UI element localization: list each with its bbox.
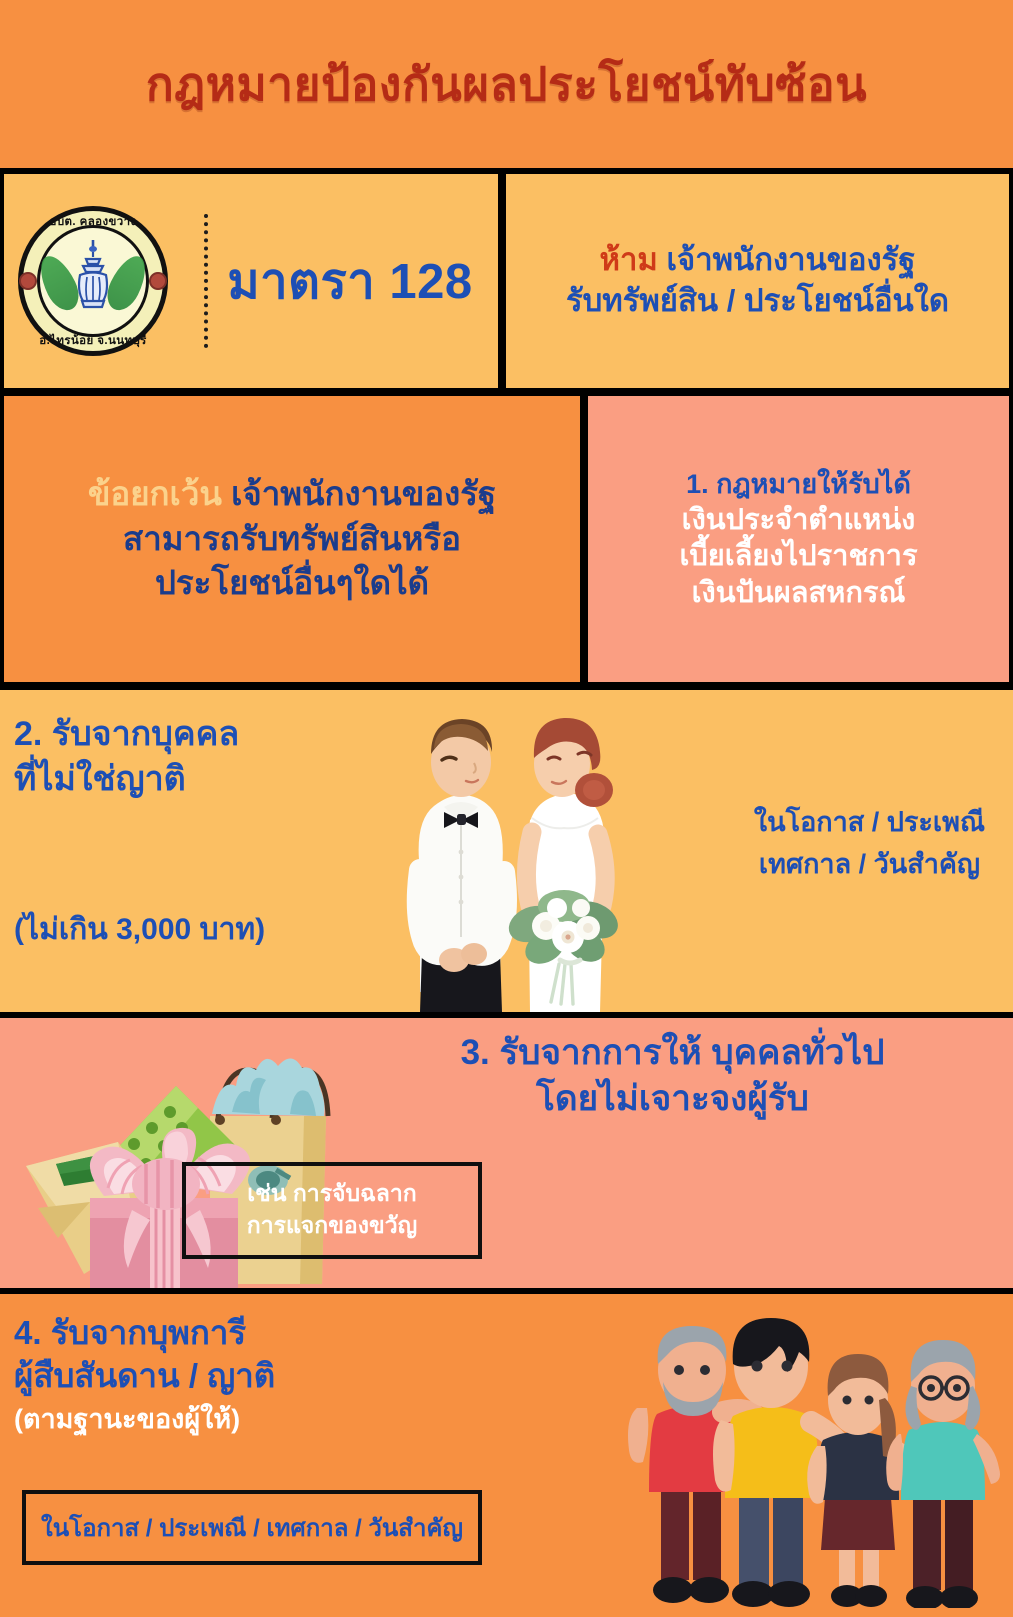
general-public-line-2: โดยไม่เจาะจงผู้รับ [346, 1076, 999, 1122]
prohibition-line-1-rest: เจ้าพนักงานของรัฐ [658, 242, 916, 277]
general-public-text-block: 3. รับจากการให้ บุคคลทั่วไป โดยไม่เจาะจง… [346, 1030, 999, 1121]
exception-emphasis: ข้อยกเว้น [88, 475, 222, 512]
non-relative-text-block: 2. รับจากบุคคล ที่ไม่ใช่ญาติ [14, 712, 374, 802]
vertical-dotted-divider [204, 214, 208, 348]
seal-top-text: อบต. คลองขวาง [18, 213, 168, 231]
non-relative-line-2: ที่ไม่ใช่ญาติ [14, 757, 374, 802]
prohibition-line-2: รับทรัพย์สิน / ประโยชน์อื่นใด [566, 281, 949, 322]
family-occasion-box: ในโอกาส / ประเพณี / เทศกาล / วันสำคัญ [22, 1490, 482, 1565]
exception-line-1-rest: เจ้าพนักงานของรัฐ [222, 475, 496, 512]
grandmother-figure [886, 1340, 1000, 1608]
family-line-2: ผู้สืบสันดาน / ญาติ [14, 1355, 534, 1398]
prohibition-line-1: ห้าม เจ้าพนักงานของรัฐ [600, 240, 916, 281]
seal-bottom-text: อ.ไทรน้อย จ.นนทบุรี [18, 332, 168, 350]
family-status-note: (ตามฐานะของผู้ให้) [14, 1402, 534, 1437]
exception-line-1: ข้อยกเว้น เจ้าพนักงานของรัฐ [88, 472, 496, 517]
infographic-poster: กฎหมายป้องกันผลประโยชน์ทับซ้อน อบต. คลอง… [0, 0, 1013, 1617]
organization-seal: อบต. คลองขวาง อ.ไทรน้อย จ.นนทบุรี [18, 206, 168, 356]
family-group-illustration [613, 1308, 1003, 1608]
non-relative-occasion-line-2: เทศกาล / วันสำคัญ [754, 844, 985, 886]
general-public-panel: 3. รับจากการให้ บุคคลทั่วไป โดยไม่เจาะจง… [0, 1018, 1013, 1288]
wedding-couple-illustration [382, 702, 644, 1012]
seal-ornament-right-icon [149, 272, 167, 290]
allowed-item-1: เบี้ยเลี้ยงไปราชการ [679, 538, 917, 575]
non-relative-panel: 2. รับจากบุคคล ที่ไม่ใช่ญาติ (ไม่เกิน 3,… [0, 690, 1013, 1012]
allowed-heading: 1. กฎหมายให้รับได้ [686, 467, 911, 502]
prohibition-panel: ห้าม เจ้าพนักงานของรัฐ รับทรัพย์สิน / ปร… [506, 174, 1009, 388]
allowed-item-2: เงินปันผลสหกรณ์ [692, 575, 906, 612]
non-relative-occasion-line-1: ในโอกาส / ประเพณี [754, 802, 985, 844]
non-relative-occasion-block: ในโอกาส / ประเพณี เทศกาล / วันสำคัญ [754, 802, 985, 886]
section-panel: อบต. คลองขวาง อ.ไทรน้อย จ.นนทบุรี [4, 174, 498, 388]
general-public-example-line-1: เช่น การจับฉลาก [202, 1178, 462, 1210]
exception-panel: ข้อยกเว้น เจ้าพนักงานของรัฐ สามารถรับทรั… [4, 396, 580, 682]
non-relative-line-1: 2. รับจากบุคคล [14, 712, 374, 757]
exception-line-3: ประโยชน์อื่นๆใดได้ [155, 561, 429, 606]
seal-ornament-left-icon [19, 272, 37, 290]
family-line-1: 4. รับจากบุพการี [14, 1312, 534, 1355]
family-panel: 4. รับจากบุพการี ผู้สืบสันดาน / ญาติ (ตา… [0, 1294, 1013, 1617]
stupa-icon [70, 238, 116, 316]
family-occasion-text: ในโอกาส / ประเพณี / เทศกาล / วันสำคัญ [36, 1508, 468, 1547]
exception-line-2: สามารถรับทรัพย์สินหรือ [123, 517, 461, 562]
prohibition-emphasis: ห้าม [600, 242, 658, 277]
family-text-block: 4. รับจากบุพการี ผู้สืบสันดาน / ญาติ (ตา… [14, 1312, 534, 1437]
section-number-label: มาตรา 128 [168, 242, 498, 320]
allowed-item-0: เงินประจำตำแหน่ง [682, 502, 916, 539]
allowed-by-law-panel: 1. กฎหมายให้รับได้ เงินประจำตำแหน่ง เบี้… [588, 396, 1009, 682]
general-public-example-box: เช่น การจับฉลาก การแจกของขวัญ [182, 1162, 482, 1259]
general-public-line-1: 3. รับจากการให้ บุคคลทั่วไป [346, 1030, 999, 1076]
page-title: กฎหมายป้องกันผลประโยชน์ทับซ้อน [128, 59, 885, 110]
non-relative-limit: (ไม่เกิน 3,000 บาท) [14, 906, 265, 953]
general-public-example-line-2: การแจกของขวัญ [202, 1210, 462, 1242]
poster-header: กฎหมายป้องกันผลประโยชน์ทับซ้อน [0, 0, 1013, 168]
